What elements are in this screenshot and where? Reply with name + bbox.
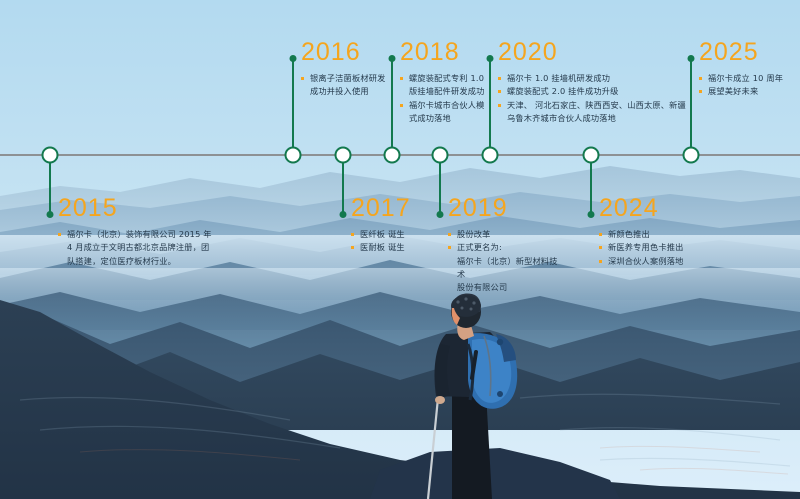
stem-2015 <box>49 155 51 215</box>
point-item: 新颜色推出 <box>599 228 719 241</box>
point-item: 天津、 河北石家庄、陕西西安、山西太原、新疆 <box>498 99 688 112</box>
year-label-2019: 2019 <box>448 196 563 221</box>
point-item: 福尔卡 1.0 挂墙机研发成功 <box>498 72 688 85</box>
points-2020: 福尔卡 1.0 挂墙机研发成功 螺旋装配式 2.0 挂件成功升级 天津、 河北石… <box>498 72 688 125</box>
stem-2016 <box>292 58 294 155</box>
timeline-node-2025[interactable] <box>683 147 700 164</box>
stem-2020 <box>489 58 491 155</box>
timeline-node-2019[interactable] <box>432 147 449 164</box>
points-2019: 股份改革 正式更名为: 福尔卡（北京）新型材料技术 股份有限公司 <box>448 228 563 294</box>
year-label-2020: 2020 <box>498 40 688 65</box>
year-label-2025: 2025 <box>699 40 799 65</box>
point-item: 螺旋装配式 2.0 挂件成功升级 <box>498 85 688 98</box>
timeline-node-2017[interactable] <box>335 147 352 164</box>
point-item: 版挂墙配件研发成功 <box>400 85 500 98</box>
year-label-2015: 2015 <box>58 196 248 221</box>
point-item: 新医养专用色卡推出 <box>599 241 719 254</box>
point-item: 医纤板 诞生 <box>351 228 441 241</box>
point-item: 正式更名为: <box>448 241 563 254</box>
points-2015: 福尔卡（北京）装饰有限公司 2015 年 4 月成立于文明古都北京品牌注册，团 … <box>58 228 248 268</box>
timeline-node-2020[interactable] <box>482 147 499 164</box>
points-2016: 银离子洁菌板材研发 成功并投入使用 <box>301 72 396 99</box>
point-item: 股份改革 <box>448 228 563 241</box>
point-item: 式成功落地 <box>400 112 500 125</box>
point-item: 福尔卡城市合伙人模 <box>400 99 500 112</box>
year-label-2017: 2017 <box>351 196 441 221</box>
point-item: 展望美好未来 <box>699 85 799 98</box>
year-label-2024: 2024 <box>599 196 719 221</box>
entry-2019: 2019 股份改革 正式更名为: 福尔卡（北京）新型材料技术 股份有限公司 <box>448 196 563 294</box>
stem-2017 <box>342 155 344 215</box>
stem-2018 <box>391 58 393 155</box>
timeline-node-2024[interactable] <box>583 147 600 164</box>
points-2024: 新颜色推出 新医养专用色卡推出 深圳合伙人案例落地 <box>599 228 719 268</box>
point-item: 螺旋装配式专利 1.0 <box>400 72 500 85</box>
stem-2019 <box>439 155 441 215</box>
entry-2018: 2018 螺旋装配式专利 1.0 版挂墙配件研发成功 福尔卡城市合伙人模 式成功… <box>400 40 500 125</box>
entry-2025: 2025 福尔卡成立 10 周年 展望美好未来 <box>699 40 799 99</box>
stem-2024 <box>590 155 592 215</box>
entry-2015: 2015 福尔卡（北京）装饰有限公司 2015 年 4 月成立于文明古都北京品牌… <box>58 196 248 268</box>
point-item: 4 月成立于文明古都北京品牌注册，团 <box>58 241 248 254</box>
point-item: 股份有限公司 <box>448 281 563 294</box>
point-item: 成功并投入使用 <box>301 85 396 98</box>
point-item: 福尔卡成立 10 周年 <box>699 72 799 85</box>
point-item: 福尔卡（北京）新型材料技术 <box>448 255 563 282</box>
timeline-node-2015[interactable] <box>42 147 59 164</box>
point-item: 福尔卡（北京）装饰有限公司 2015 年 <box>58 228 248 241</box>
entry-2016: 2016 银离子洁菌板材研发 成功并投入使用 <box>301 40 396 99</box>
point-item: 医耐板 诞生 <box>351 241 441 254</box>
timeline-node-2016[interactable] <box>285 147 302 164</box>
entry-2020: 2020 福尔卡 1.0 挂墙机研发成功 螺旋装配式 2.0 挂件成功升级 天津… <box>498 40 688 125</box>
points-2018: 螺旋装配式专利 1.0 版挂墙配件研发成功 福尔卡城市合伙人模 式成功落地 <box>400 72 500 125</box>
entry-2024: 2024 新颜色推出 新医养专用色卡推出 深圳合伙人案例落地 <box>599 196 719 268</box>
point-item: 深圳合伙人案例落地 <box>599 255 719 268</box>
year-label-2018: 2018 <box>400 40 500 65</box>
point-item: 银离子洁菌板材研发 <box>301 72 396 85</box>
entry-2017: 2017 医纤板 诞生 医耐板 诞生 <box>351 196 441 255</box>
points-2017: 医纤板 诞生 医耐板 诞生 <box>351 228 441 255</box>
timeline-overlay: 2015 福尔卡（北京）装饰有限公司 2015 年 4 月成立于文明古都北京品牌… <box>0 0 800 499</box>
point-item: 乌鲁木齐城市合伙人成功落地 <box>498 112 688 125</box>
points-2025: 福尔卡成立 10 周年 展望美好未来 <box>699 72 799 99</box>
stem-2025 <box>690 58 692 155</box>
point-item: 队搭建，定位医疗板材行业。 <box>58 255 248 268</box>
year-label-2016: 2016 <box>301 40 396 65</box>
timeline-node-2018[interactable] <box>384 147 401 164</box>
